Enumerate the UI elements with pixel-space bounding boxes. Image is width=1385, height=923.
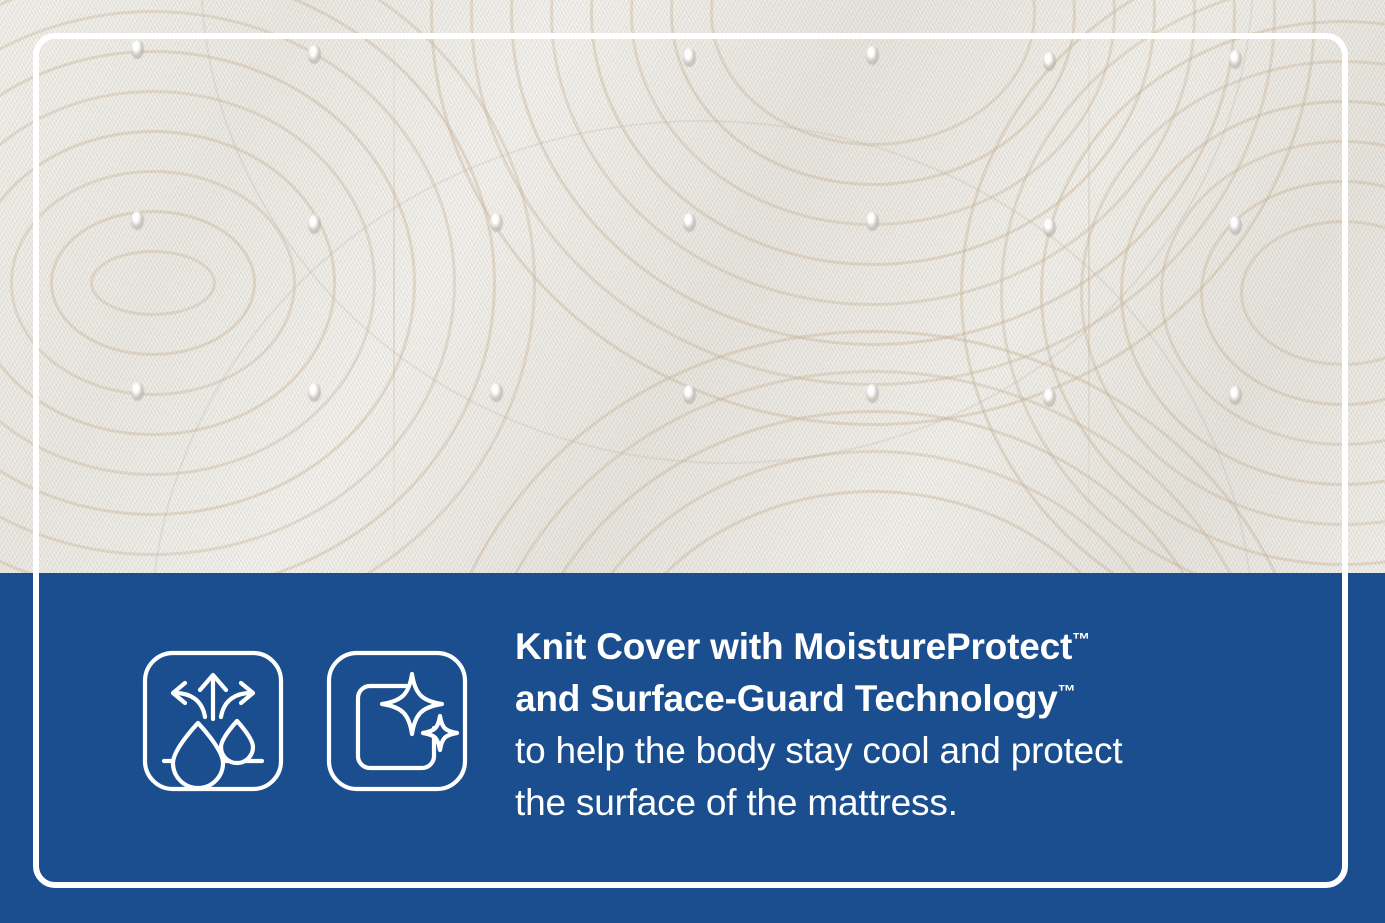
tuft-button <box>1229 216 1242 235</box>
feature-content: Knit Cover with MoistureProtect™ and Sur… <box>0 573 1385 923</box>
tuft-button <box>490 383 503 402</box>
knit-weave-texture <box>0 0 1385 575</box>
tuft-button <box>866 212 879 231</box>
tuft-button <box>308 383 321 402</box>
tuft-button <box>131 382 144 401</box>
trademark-symbol: ™ <box>1072 630 1090 650</box>
moisture-wicking-icon <box>142 650 284 792</box>
tuft-button <box>1229 50 1242 69</box>
quilt-seam <box>1088 0 1090 575</box>
headline-line-1: Knit Cover with MoistureProtect™ <box>515 621 1275 673</box>
surface-guard-icon <box>326 650 468 792</box>
tuft-button <box>683 213 696 232</box>
tuft-button <box>490 213 503 232</box>
tuft-button <box>308 45 321 64</box>
tuft-button <box>131 211 144 230</box>
tuft-button <box>1043 52 1056 71</box>
headline-line-2: and Surface-Guard Technology™ <box>515 673 1275 725</box>
tuft-button <box>308 215 321 234</box>
mattress-fabric-photo <box>0 0 1385 575</box>
trademark-symbol: ™ <box>1058 682 1076 702</box>
tuft-button <box>1043 218 1056 237</box>
marketing-banner: Knit Cover with MoistureProtect™ and Sur… <box>0 0 1385 923</box>
tuft-button <box>683 48 696 67</box>
quilt-seam <box>393 0 395 575</box>
body-line-1: to help the body stay cool and protect <box>515 725 1275 777</box>
tuft-button <box>131 40 144 59</box>
tuft-button <box>866 46 879 65</box>
tuft-button <box>1229 386 1242 405</box>
tuft-button <box>866 384 879 403</box>
feature-copy: Knit Cover with MoistureProtect™ and Sur… <box>515 621 1275 829</box>
body-line-2: the surface of the mattress. <box>515 777 1275 829</box>
tuft-button <box>683 385 696 404</box>
feature-icon-group <box>142 650 468 792</box>
tuft-button <box>1043 388 1056 407</box>
